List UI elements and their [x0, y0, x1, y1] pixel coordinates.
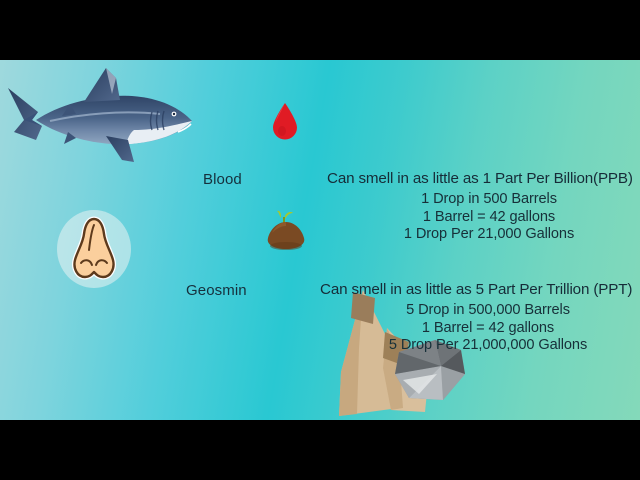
sprout-leaf-left — [277, 211, 281, 218]
headline-geosmin: Can smell in as little as 5 Part Per Tri… — [320, 281, 632, 298]
headline-blood: Can smell in as little as 1 Part Per Bil… — [327, 170, 633, 187]
detail-line: 1 Drop in 500 Barrels — [344, 191, 634, 209]
letterbox-bar-top — [0, 0, 640, 60]
detail-line: 1 Barrel = 42 gallons — [344, 209, 634, 227]
details-blood: 1 Drop in 500 Barrels 1 Barrel = 42 gall… — [344, 191, 634, 244]
details-geosmin: 5 Drop in 500,000 Barrels 1 Barrel = 42 … — [340, 302, 636, 355]
sprout-leaf-right — [285, 212, 293, 219]
detail-line: 5 Drop in 500,000 Barrels — [340, 302, 636, 320]
detail-line: 1 Barrel = 42 gallons — [340, 320, 636, 338]
infographic-slide: Blood Can smell in as little as 1 Part P… — [0, 0, 640, 480]
shark-icon — [2, 64, 202, 184]
label-geosmin: Geosmin — [186, 282, 247, 299]
detail-line: 1 Drop Per 21,000 Gallons — [344, 226, 634, 244]
shark-tail — [8, 88, 42, 140]
shark-dorsal-fin — [84, 68, 120, 102]
nose-icon — [70, 216, 118, 282]
letterbox-bar-bottom — [0, 420, 640, 480]
underwater-scene: Blood Can smell in as little as 1 Part P… — [0, 60, 640, 420]
nose-badge — [57, 210, 131, 292]
label-blood: Blood — [203, 171, 242, 188]
dirt-mound-icon — [263, 210, 309, 252]
detail-line: 5 Drop Per 21,000,000 Gallons — [340, 337, 636, 355]
blood-drop-icon — [272, 102, 298, 140]
